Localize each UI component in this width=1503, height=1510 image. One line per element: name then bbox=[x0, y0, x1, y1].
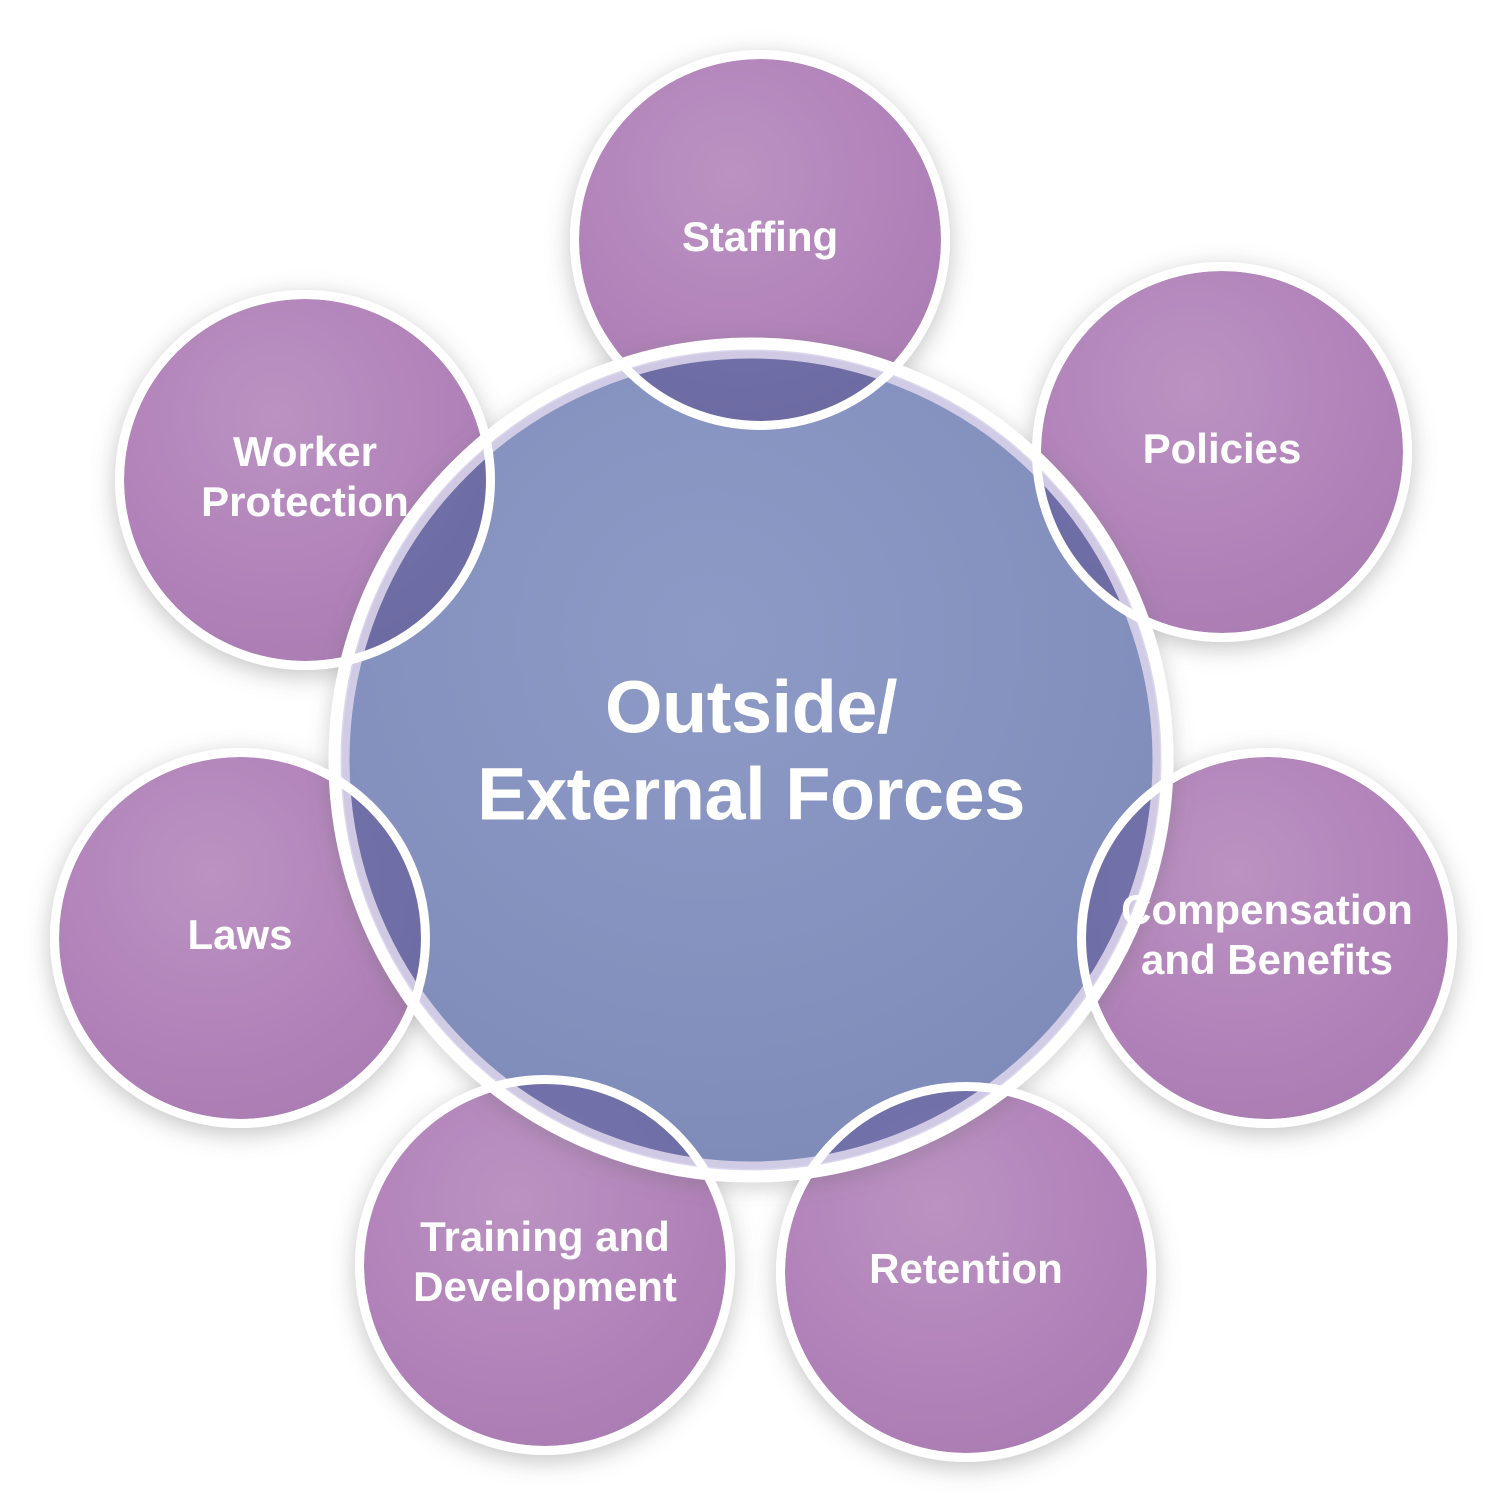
petal-label-policies: Policies bbox=[1143, 425, 1302, 472]
hub-label-line-2: External Forces bbox=[477, 753, 1025, 836]
petal-label-line-worker-protection-1: Worker bbox=[233, 428, 377, 475]
petal-label-staffing: Staffing bbox=[682, 213, 838, 260]
petal-label-retention: Retention bbox=[869, 1245, 1063, 1292]
petal-label-laws: Laws bbox=[187, 911, 292, 958]
petal-label-line-retention-1: Retention bbox=[869, 1245, 1063, 1292]
petal-label-line-training-and-development-1: Training and bbox=[420, 1213, 670, 1260]
hub-label-line-1: Outside/ bbox=[605, 666, 897, 749]
petal-label-line-policies-1: Policies bbox=[1143, 425, 1302, 472]
petal-label-line-compensation-and-benefits-2: and Benefits bbox=[1141, 936, 1393, 983]
diagram-canvas: StaffingPoliciesCompensationand Benefits… bbox=[0, 0, 1503, 1510]
petal-label-line-laws-1: Laws bbox=[187, 911, 292, 958]
petal-label-line-training-and-development-2: Development bbox=[413, 1263, 677, 1310]
hub-and-petal-diagram: StaffingPoliciesCompensationand Benefits… bbox=[0, 0, 1503, 1510]
petal-label-line-staffing-1: Staffing bbox=[682, 213, 838, 260]
petal-label-line-compensation-and-benefits-1: Compensation bbox=[1121, 886, 1413, 933]
petal-label-line-worker-protection-2: Protection bbox=[201, 478, 409, 525]
